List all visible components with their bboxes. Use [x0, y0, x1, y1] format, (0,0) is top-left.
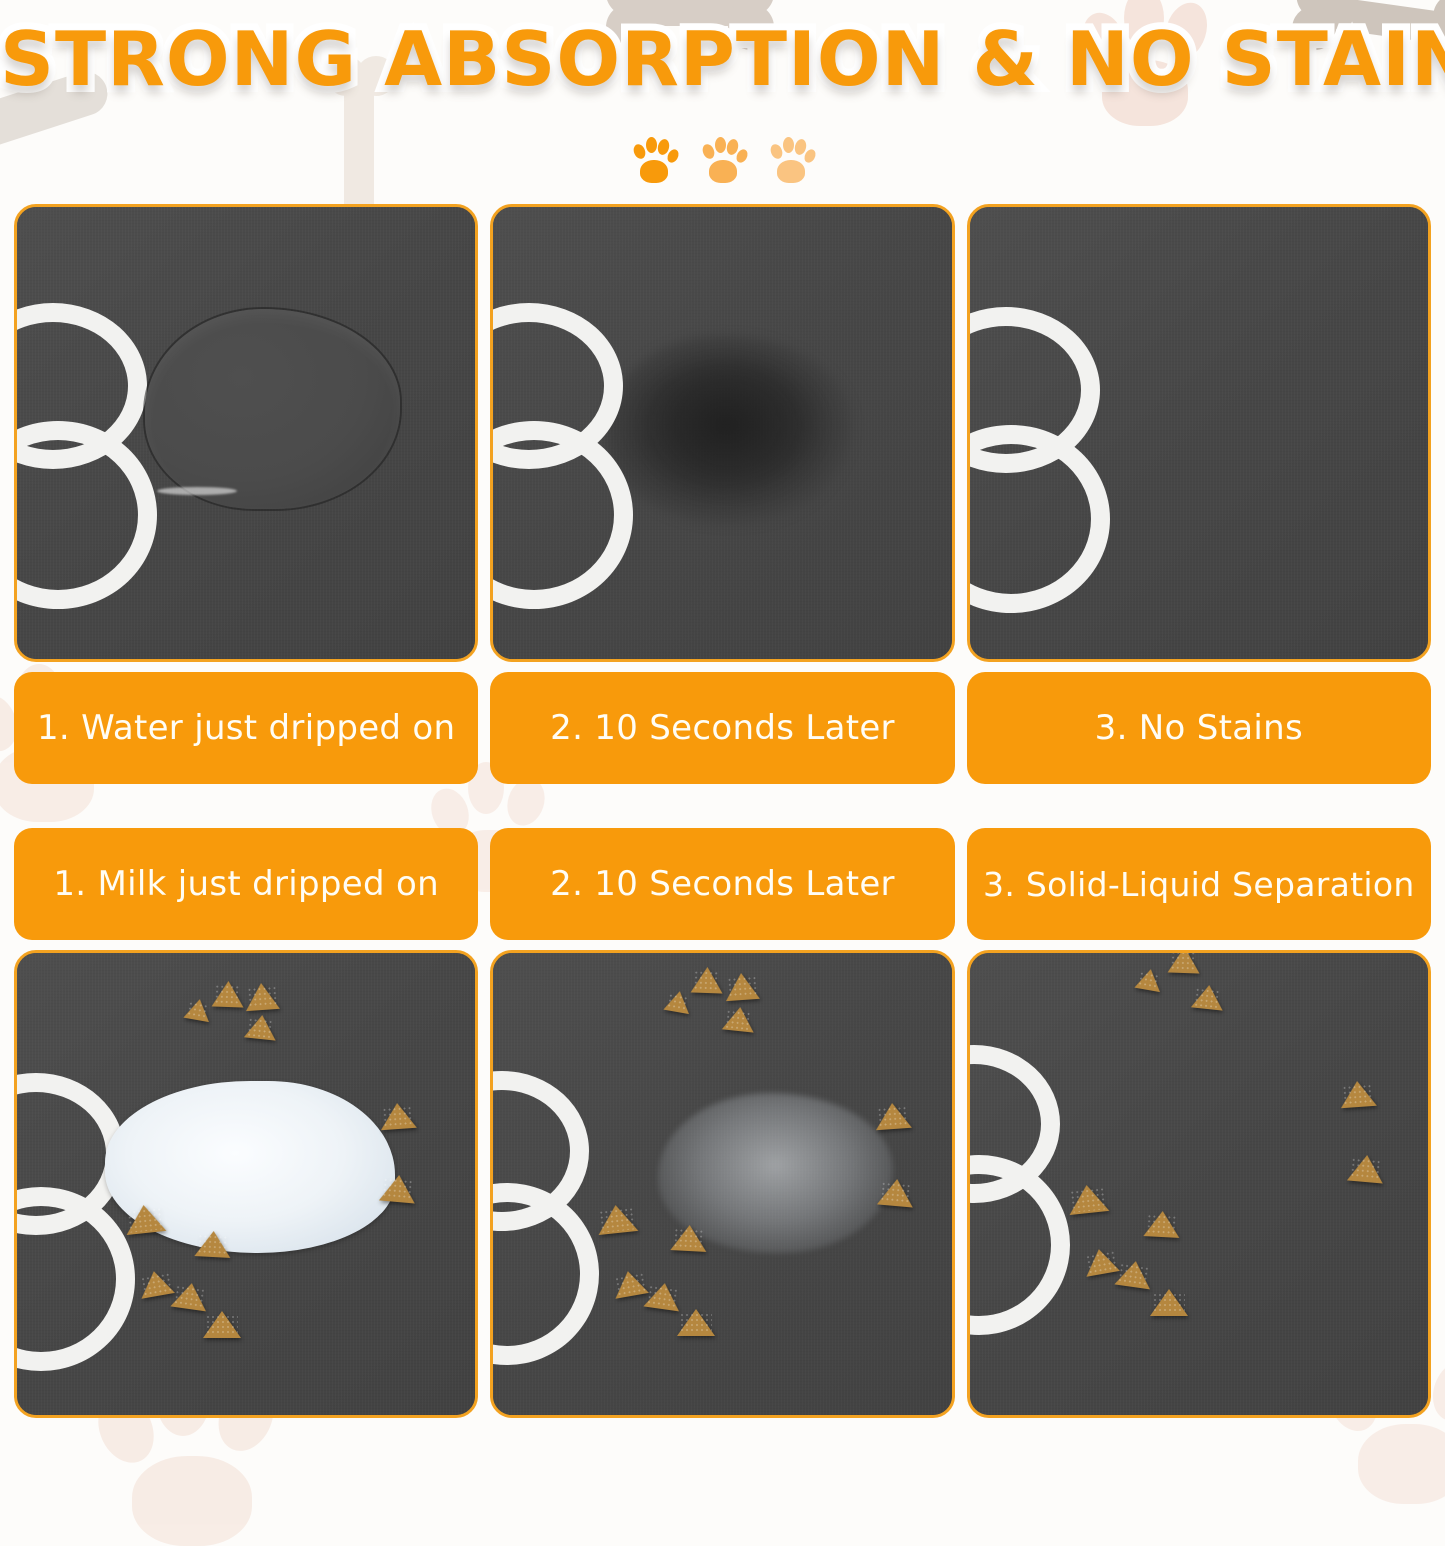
milk-step-1-cell [14, 950, 478, 1418]
kibble-piece [379, 1102, 417, 1130]
photo-milk-10-seconds [490, 950, 954, 1418]
kibble-piece [664, 989, 693, 1014]
water-highlight [157, 487, 237, 495]
kibble-piece [244, 1013, 278, 1040]
step-label: 1. Milk just dripped on [14, 828, 478, 940]
kibble-piece [244, 982, 280, 1011]
water-step-3-cell [967, 204, 1431, 662]
water-step-2-label-cell: 2. 10 Seconds Later [490, 672, 954, 784]
kibble-piece [1134, 967, 1163, 992]
step-label: 3. Solid-Liquid Separation [967, 828, 1431, 940]
mat-logo-icon [490, 303, 615, 603]
photo-water-10-seconds [490, 204, 954, 662]
damp-patch-soft [643, 357, 823, 497]
kibble-piece [596, 1203, 639, 1235]
photo-water-just-dripped [14, 204, 478, 662]
kibble-piece [1339, 1080, 1377, 1108]
milk-test-label-row: 1. Milk just dripped on 2. 10 Seconds La… [14, 828, 1431, 940]
mat-logo-icon [967, 1045, 1068, 1345]
step-label: 1. Water just dripped on [14, 672, 478, 784]
kibble-piece [877, 1177, 915, 1207]
kibble-piece [691, 966, 724, 993]
kibble-piece [183, 997, 212, 1022]
kibble-piece [170, 1281, 209, 1312]
kibble-piece [1190, 983, 1224, 1010]
step-label: 3. No Stains [967, 672, 1431, 784]
kibble-piece [1167, 950, 1200, 974]
milk-test-section: 1. Milk just dripped on 2. 10 Seconds La… [14, 828, 1431, 1418]
milk-step-3-cell [967, 950, 1431, 1418]
water-test-photo-row [14, 204, 1431, 662]
water-step-1-cell [14, 204, 478, 662]
comparison-grid: 1. Water just dripped on 2. 10 Seconds L… [14, 204, 1431, 1418]
kibble-piece [644, 1281, 683, 1312]
water-step-1-label-cell: 1. Water just dripped on [14, 672, 478, 784]
page-title: STRONG ABSORPTION & NO STAINS [0, 20, 1445, 99]
kibble-piece [1114, 1259, 1153, 1290]
kibble-piece [1347, 1153, 1385, 1183]
kibble-piece [677, 1309, 715, 1336]
kibble-piece [124, 1203, 167, 1235]
milk-step-3-label-cell: 3. Solid-Liquid Separation [967, 828, 1431, 940]
milk-step-2-cell [490, 950, 954, 1418]
kibble-piece [1143, 1210, 1180, 1238]
milk-test-photo-row [14, 950, 1431, 1418]
kibble-piece [203, 1311, 241, 1338]
kibble-piece [1066, 1183, 1109, 1215]
kibble-piece [722, 1005, 756, 1032]
kibble-piece [379, 1173, 417, 1203]
kibble-piece [194, 1230, 231, 1258]
water-step-2-cell [490, 204, 954, 662]
paw-divider [0, 136, 1445, 196]
kibble-piece [671, 1224, 708, 1252]
mat-logo-icon [14, 1073, 127, 1373]
paw-print-icon [700, 136, 746, 188]
kibble-piece [874, 1102, 912, 1130]
step-label: 2. 10 Seconds Later [490, 828, 954, 940]
water-puddle [145, 309, 400, 509]
title-section: STRONG ABSORPTION & NO STAINS [0, 20, 1445, 99]
water-step-3-label-cell: 3. No Stains [967, 672, 1431, 784]
mat-logo-icon [490, 1071, 595, 1371]
kibble-piece [724, 972, 760, 1001]
photo-no-stains [967, 204, 1431, 662]
mat-logo-icon [14, 303, 139, 603]
water-test-label-row: 1. Water just dripped on 2. 10 Seconds L… [14, 672, 1431, 784]
kibble-piece [1150, 1289, 1188, 1316]
milk-step-1-label-cell: 1. Milk just dripped on [14, 828, 478, 940]
step-label: 2. 10 Seconds Later [490, 672, 954, 784]
photo-milk-just-dripped [14, 950, 478, 1418]
photo-solid-liquid-separation [967, 950, 1431, 1418]
paw-print-icon [631, 136, 677, 188]
kibble-piece [212, 980, 245, 1007]
paw-print-icon [768, 136, 814, 188]
mat-logo-icon [967, 307, 1092, 607]
milk-step-2-label-cell: 2. 10 Seconds Later [490, 828, 954, 940]
